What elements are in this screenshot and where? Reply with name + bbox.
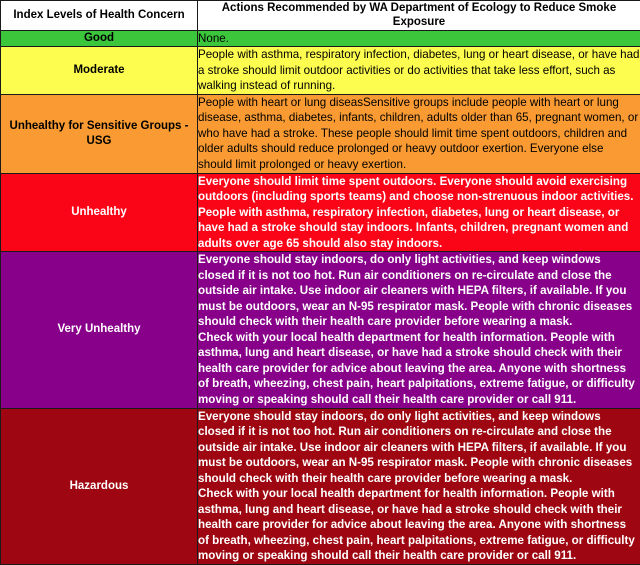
table-body: Good None. Moderate People with asthma, … — [1, 30, 640, 564]
level-label-unhealthy: Unhealthy — [1, 173, 198, 252]
actions-cell-good: None. — [198, 30, 640, 47]
level-label-usg: Unhealthy for Sensitive Groups - USG — [1, 94, 198, 173]
level-label-very-unhealthy: Very Unhealthy — [1, 252, 198, 408]
action-paragraph: People with heart or lung diseasSensitiv… — [198, 95, 640, 173]
actions-cell-hazardous: Everyone should stay indoors, do only li… — [198, 408, 640, 564]
action-paragraph: Check with your local health department … — [198, 330, 640, 408]
table-row-unhealthy: Unhealthy Everyone should limit time spe… — [1, 173, 640, 252]
action-paragraph: Everyone should stay indoors, do only li… — [198, 409, 640, 487]
action-paragraph: People with asthma, respiratory infectio… — [198, 47, 640, 94]
column-header-actions: Actions Recommended by WA Department of … — [198, 1, 640, 31]
level-label-good: Good — [1, 30, 198, 47]
table-row-hazardous: Hazardous Everyone should stay indoors, … — [1, 408, 640, 564]
actions-cell-usg: People with heart or lung diseasSensitiv… — [198, 94, 640, 173]
action-paragraph: None. — [198, 31, 640, 47]
air-quality-index-table: Index Levels of Health Concern Actions R… — [0, 0, 640, 565]
table-header: Index Levels of Health Concern Actions R… — [1, 1, 640, 31]
table-header-row: Index Levels of Health Concern Actions R… — [1, 1, 640, 31]
table-row-good: Good None. — [1, 30, 640, 47]
level-label-hazardous: Hazardous — [1, 408, 198, 564]
table-row-very-unhealthy: Very Unhealthy Everyone should stay indo… — [1, 252, 640, 408]
actions-cell-very-unhealthy: Everyone should stay indoors, do only li… — [198, 252, 640, 408]
action-paragraph: Check with your local health department … — [198, 486, 640, 564]
level-label-moderate: Moderate — [1, 47, 198, 95]
table-row-moderate: Moderate People with asthma, respiratory… — [1, 47, 640, 95]
column-header-index-levels: Index Levels of Health Concern — [1, 1, 198, 31]
action-paragraph: Everyone should stay indoors, do only li… — [198, 252, 640, 330]
actions-cell-unhealthy: Everyone should limit time spent outdoor… — [198, 173, 640, 252]
actions-cell-moderate: People with asthma, respiratory infectio… — [198, 47, 640, 95]
action-paragraph: Everyone should limit time spent outdoor… — [198, 174, 640, 252]
table-row-unhealthy-sensitive-groups: Unhealthy for Sensitive Groups - USG Peo… — [1, 94, 640, 173]
